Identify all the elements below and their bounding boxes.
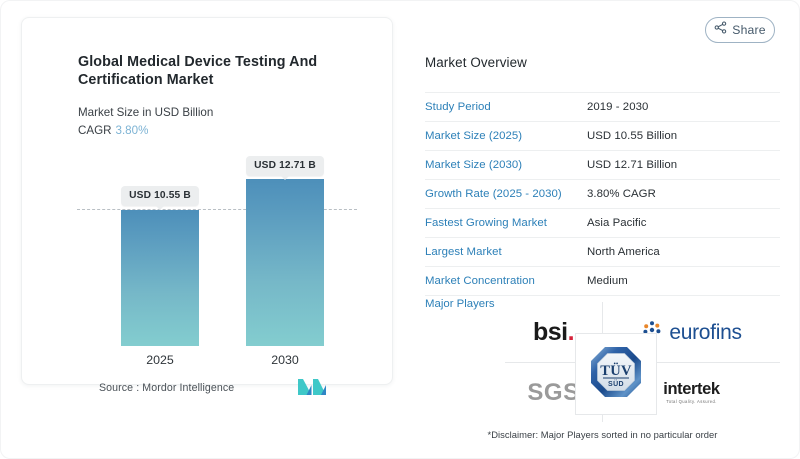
svg-text:TÜV: TÜV [600, 362, 632, 379]
table-row: Largest Market North America [425, 238, 780, 267]
sgs-logo: SGS [527, 381, 579, 405]
market-overview-title: Market Overview [425, 55, 527, 70]
svg-text:SÜD: SÜD [608, 379, 624, 388]
page-root: Global Medical Device Testing And Certif… [0, 0, 800, 459]
table-row: Market Concentration Medium [425, 267, 780, 296]
x-axis-tick-2030: 2030 [246, 353, 324, 367]
share-button-label: Share [732, 23, 766, 37]
source-attribution: Source : Mordor Intelligence [99, 382, 234, 394]
market-overview-table: Study Period 2019 - 2030 Market Size (20… [425, 92, 780, 296]
row-key-growth-rate: Growth Rate (2025 - 2030) [425, 188, 587, 200]
table-row: Market Size (2025) USD 10.55 Billion [425, 122, 780, 151]
row-value-market-size-2025: USD 10.55 Billion [587, 130, 677, 142]
logo-cell-tuv-sud: TÜV SÜD [575, 333, 657, 415]
bar-value-label-2025: USD 10.55 B [121, 186, 199, 206]
intertek-logo-tagline: Total Quality. Assured. [663, 400, 719, 404]
row-value-fastest-growing-market: Asia Pacific [587, 217, 646, 229]
row-key-market-concentration: Market Concentration [425, 275, 587, 287]
row-key-market-size-2030: Market Size (2030) [425, 159, 587, 171]
chart-title: Global Medical Device Testing And Certif… [78, 53, 378, 89]
bsi-logo-dot: . [568, 318, 574, 346]
mordor-intelligence-logo [298, 379, 326, 395]
share-button[interactable]: Share [705, 17, 775, 43]
row-value-study-period: 2019 - 2030 [587, 101, 648, 113]
table-row: Study Period 2019 - 2030 [425, 92, 780, 122]
players-disclaimer: *Disclaimer: Major Players sorted in no … [425, 429, 780, 440]
row-key-study-period: Study Period [425, 101, 587, 113]
intertek-logo: intertek Total Quality. Assured. [663, 381, 719, 405]
x-axis-tick-2025: 2025 [121, 353, 199, 367]
cagr-value: 3.80% [116, 124, 149, 137]
tuv-sud-logo: TÜV SÜD [588, 344, 644, 405]
bsi-logo: bsi. [533, 320, 574, 345]
row-value-market-size-2030: USD 12.71 Billion [587, 159, 677, 171]
chart-cagr: CAGR3.80% [78, 124, 148, 138]
intertek-logo-text: intertek [663, 381, 719, 398]
table-row: Fastest Growing Market Asia Pacific [425, 209, 780, 238]
row-value-market-concentration: Medium [587, 275, 628, 287]
row-value-growth-rate: 3.80% CAGR [587, 188, 656, 200]
major-players-label: Major Players [425, 298, 495, 310]
bar-chart: Global Medical Device Testing And Certif… [21, 17, 393, 385]
row-value-largest-market: North America [587, 246, 660, 258]
bar-2030[interactable] [246, 179, 324, 346]
bsi-logo-text: bsi [533, 318, 568, 346]
table-row: Growth Rate (2025 - 2030) 3.80% CAGR [425, 180, 780, 209]
eurofins-logo-text: eurofins [669, 322, 741, 343]
bar-value-label-2030: USD 12.71 B [246, 156, 324, 176]
row-key-largest-market: Largest Market [425, 246, 587, 258]
bar-2025[interactable] [121, 210, 199, 346]
table-row: Market Size (2030) USD 12.71 Billion [425, 151, 780, 180]
row-key-market-size-2025: Market Size (2025) [425, 130, 587, 142]
row-key-fastest-growing-market: Fastest Growing Market [425, 217, 587, 229]
share-nodes-icon [714, 21, 727, 39]
chart-subtitle: Market Size in USD Billion [78, 106, 213, 120]
cagr-label: CAGR [78, 124, 112, 137]
